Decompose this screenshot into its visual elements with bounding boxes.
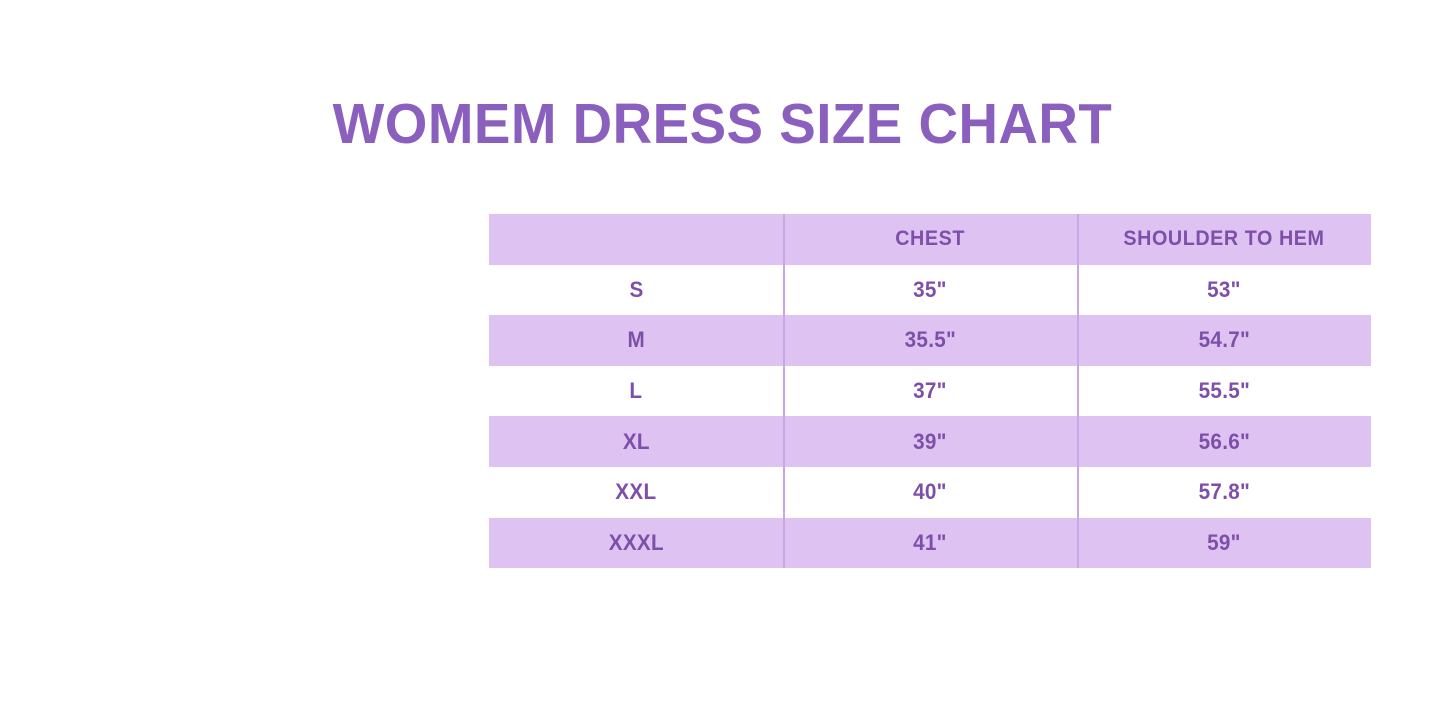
size-chart-table: CHEST SHOULDER TO HEM S 35" 53"	[489, 214, 1371, 568]
cell-shoulder-to-hem: 55.5"	[1077, 366, 1371, 417]
shoulder-to-hem-value: 57.8"	[1198, 479, 1249, 505]
table-row: S 35" 53"	[489, 265, 1371, 316]
size-label: XXL	[615, 479, 656, 505]
column-header-shoulder-to-hem-label: SHOULDER TO HEM	[1123, 227, 1324, 251]
cell-chest: 39"	[783, 416, 1077, 467]
size-label: XL	[623, 429, 650, 455]
cell-shoulder-to-hem: 57.8"	[1077, 467, 1371, 518]
shoulder-to-hem-value: 55.5"	[1198, 378, 1249, 404]
cell-chest: 40"	[783, 467, 1077, 518]
size-label: XXXL	[608, 530, 663, 556]
chest-value: 37"	[913, 378, 947, 404]
cell-size: L	[489, 366, 783, 417]
table-row: XXXL 41" 59"	[489, 518, 1371, 569]
size-label: L	[630, 378, 643, 404]
size-chart-page: WOMEM DRESS SIZE CHART CHEST SHOULDER TO…	[0, 0, 1445, 723]
chest-value: 39"	[913, 429, 947, 455]
column-header-shoulder-to-hem: SHOULDER TO HEM	[1077, 214, 1371, 265]
cell-size: XXL	[489, 467, 783, 518]
chest-value: 35"	[913, 277, 947, 303]
cell-size: XXXL	[489, 518, 783, 569]
table-row: M 35.5" 54.7"	[489, 315, 1371, 366]
table-header-row: CHEST SHOULDER TO HEM	[489, 214, 1371, 265]
cell-size: XL	[489, 416, 783, 467]
cell-shoulder-to-hem: 56.6"	[1077, 416, 1371, 467]
shoulder-to-hem-value: 53"	[1207, 277, 1241, 303]
column-header-chest: CHEST	[783, 214, 1077, 265]
table-row: XXL 40" 57.8"	[489, 467, 1371, 518]
table-row: L 37" 55.5"	[489, 366, 1371, 417]
chest-value: 40"	[913, 479, 947, 505]
cell-shoulder-to-hem: 59"	[1077, 518, 1371, 569]
chest-value: 35.5"	[904, 327, 955, 353]
shoulder-to-hem-value: 54.7"	[1198, 327, 1249, 353]
cell-chest: 35.5"	[783, 315, 1077, 366]
table-row: XL 39" 56.6"	[489, 416, 1371, 467]
cell-size: M	[489, 315, 783, 366]
cell-size: S	[489, 265, 783, 316]
size-label: S	[629, 277, 643, 303]
chest-value: 41"	[913, 530, 947, 556]
cell-chest: 37"	[783, 366, 1077, 417]
cell-chest: 35"	[783, 265, 1077, 316]
column-header-chest-label: CHEST	[895, 227, 965, 251]
cell-shoulder-to-hem: 54.7"	[1077, 315, 1371, 366]
page-title: WOMEM DRESS SIZE CHART	[29, 95, 1416, 155]
column-header-size	[489, 214, 783, 265]
cell-chest: 41"	[783, 518, 1077, 569]
shoulder-to-hem-value: 56.6"	[1198, 429, 1249, 455]
shoulder-to-hem-value: 59"	[1207, 530, 1241, 556]
size-chart-table-wrapper: CHEST SHOULDER TO HEM S 35" 53"	[489, 214, 1371, 568]
cell-shoulder-to-hem: 53"	[1077, 265, 1371, 316]
size-label: M	[627, 327, 645, 353]
